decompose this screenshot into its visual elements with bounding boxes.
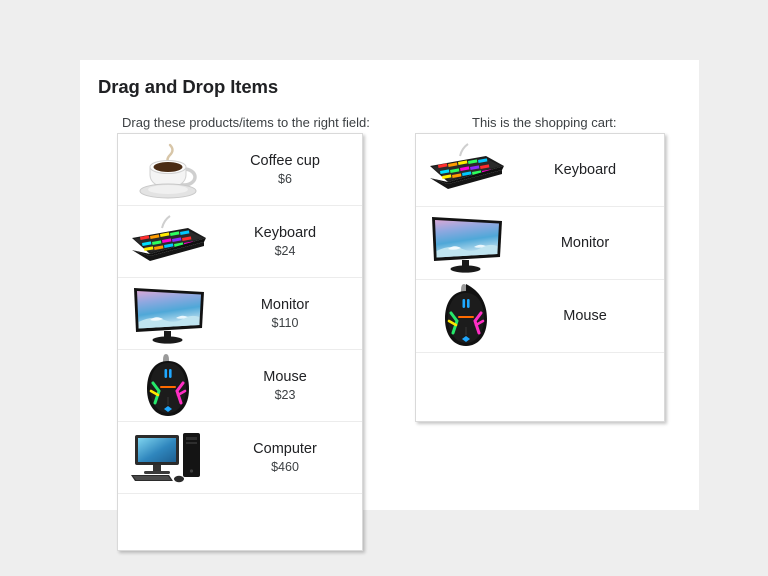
list-item-info: Monitor (512, 234, 664, 252)
monitor-icon (420, 210, 512, 276)
item-price: $460 (214, 459, 356, 475)
item-name: Monitor (512, 234, 658, 252)
item-name: Keyboard (214, 224, 356, 242)
list-item-info: Monitor $110 (214, 296, 362, 331)
list-item-info: Keyboard (512, 161, 664, 179)
item-price: $110 (214, 315, 356, 331)
page-root: Drag and Drop Items Drag these products/… (0, 0, 768, 576)
item-name: Computer (214, 440, 356, 458)
list-item-info: Keyboard $24 (214, 224, 362, 259)
shopping-cart-panel[interactable]: Keyboard (415, 133, 665, 422)
item-price: $23 (214, 387, 356, 403)
page-title: Drag and Drop Items (98, 76, 278, 98)
list-item[interactable]: Keyboard (416, 134, 664, 207)
keyboard-icon (122, 209, 214, 275)
computer-icon (122, 425, 214, 491)
mouse-icon (122, 353, 214, 419)
item-name: Mouse (512, 307, 658, 325)
list-item-info: Computer $460 (214, 440, 362, 475)
keyboard-icon (420, 137, 512, 203)
list-item[interactable]: Coffee cup $6 (118, 134, 362, 206)
list-item[interactable]: Computer $460 (118, 422, 362, 494)
item-name: Monitor (214, 296, 356, 314)
monitor-icon (122, 281, 214, 347)
item-price: $6 (214, 171, 356, 187)
list-item[interactable]: Monitor $110 (118, 278, 362, 350)
list-item[interactable]: Mouse (416, 280, 664, 353)
cart-label: This is the shopping cart: (472, 115, 617, 130)
list-item-info: Mouse (512, 307, 664, 325)
list-item[interactable]: Keyboard $24 (118, 206, 362, 278)
item-name: Keyboard (512, 161, 658, 179)
list-item-info: Mouse $23 (214, 368, 362, 403)
item-name: Coffee cup (214, 152, 356, 170)
item-price: $24 (214, 243, 356, 259)
source-list-label: Drag these products/items to the right f… (122, 115, 370, 130)
source-drag-panel[interactable]: Coffee cup $6 (117, 133, 363, 551)
coffee-cup-icon (122, 137, 214, 203)
item-name: Mouse (214, 368, 356, 386)
mouse-icon (420, 283, 512, 349)
list-item[interactable]: Monitor (416, 207, 664, 280)
content-card: Drag and Drop Items Drag these products/… (80, 60, 699, 510)
list-item[interactable]: Mouse $23 (118, 350, 362, 422)
list-item-info: Coffee cup $6 (214, 152, 362, 187)
